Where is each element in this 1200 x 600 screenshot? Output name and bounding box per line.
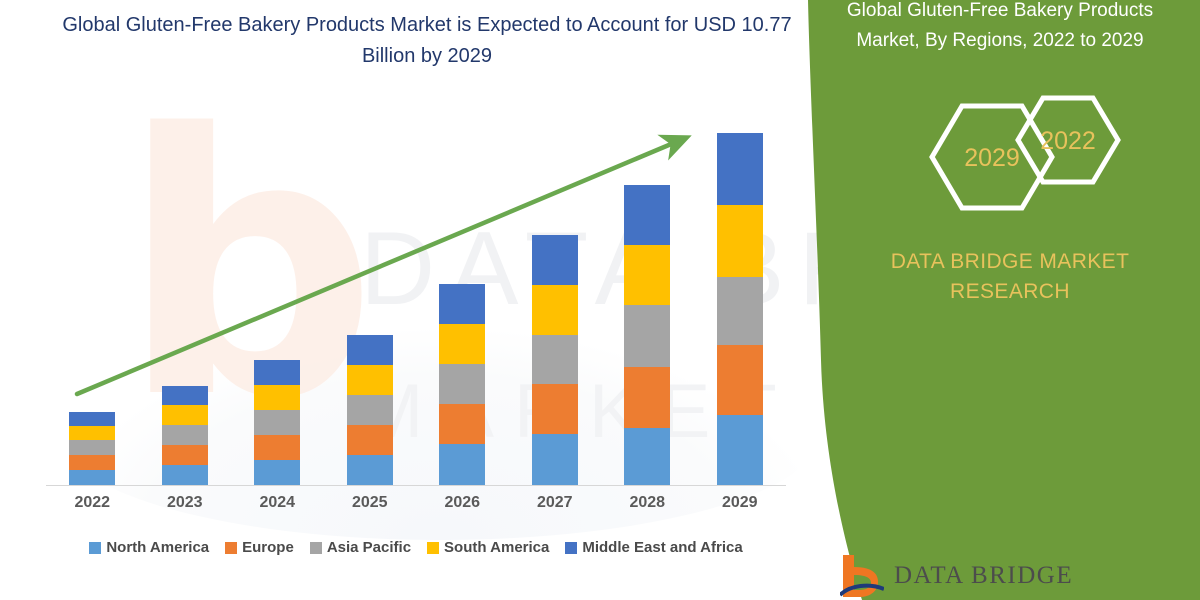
bar-segment [624,428,670,485]
bar-column [325,120,415,485]
bar-segment [439,284,485,324]
legend-swatch-icon [225,542,237,554]
bar-segment [347,335,393,365]
bar-segment [254,460,300,485]
brand-name-line2: RESEARCH [840,280,1180,304]
x-axis-label-2028: 2028 [602,494,692,512]
bar-segment [624,367,670,428]
bar-segment [717,345,763,415]
bar-segment [717,277,763,345]
x-axis-label-2024: 2024 [232,494,322,512]
chart-legend: North AmericaEuropeAsia PacificSouth Ame… [46,539,786,556]
chart-title: Global Gluten-Free Bakery Products Marke… [62,10,792,72]
bar-segment [254,385,300,410]
bar-segment [624,185,670,245]
legend-item[interactable]: Middle East and Africa [565,539,742,556]
x-axis-label-2023: 2023 [140,494,230,512]
bar-column [232,120,322,485]
legend-label: South America [444,539,549,556]
bar-stack-2029[interactable] [717,133,763,485]
bar-segment [439,404,485,444]
legend-item[interactable]: North America [89,539,209,556]
chart-plot-area: 20222023202420252026202720282029 North A… [0,0,800,600]
legend-label: North America [106,539,209,556]
bar-segment [717,415,763,485]
legend-label: Middle East and Africa [582,539,742,556]
bar-segment [439,324,485,364]
bar-segment [532,285,578,335]
x-axis-label-2025: 2025 [325,494,415,512]
bar-stack-2028[interactable] [624,185,670,485]
bar-column [417,120,507,485]
bar-segment [69,412,115,426]
bar-segment [439,364,485,404]
bar-segment [439,444,485,485]
bar-segment [254,410,300,435]
x-axis-label-2022: 2022 [47,494,137,512]
bar-segment [532,434,578,485]
legend-item[interactable]: South America [427,539,549,556]
bar-stack-2023[interactable] [162,386,208,485]
bar-column [695,120,785,485]
bar-segment [69,455,115,470]
footer-logo: DATA BRIDGE [840,552,1160,600]
bar-segment [717,133,763,205]
bar-stack-2024[interactable] [254,360,300,485]
x-axis-label-2029: 2029 [695,494,785,512]
bar-segment [532,335,578,384]
bar-segment [162,465,208,485]
legend-label: Asia Pacific [327,539,411,556]
bar-column [47,120,137,485]
bar-column [510,120,600,485]
bar-segment [69,470,115,485]
infographic-root: b DATA BRIDGE MARKET RESEARCH Global Glu… [0,0,1200,600]
bar-segment [162,425,208,445]
bar-segment [347,365,393,395]
bar-segment [347,425,393,455]
hexagon-2029-label: 2029 [964,144,1020,172]
x-axis-line [46,485,786,486]
legend-swatch-icon [310,542,322,554]
brand-panel: Global Gluten-Free Bakery Products Marke… [790,0,1200,600]
bar-segment [347,455,393,485]
legend-item[interactable]: Europe [225,539,294,556]
bar-stack-2022[interactable] [69,412,115,485]
bar-column [140,120,230,485]
legend-swatch-icon [427,542,439,554]
bar-column [602,120,692,485]
panel-title: Global Gluten-Free Bakery Products Marke… [820,0,1180,56]
footer-logo-text: DATA BRIDGE [894,562,1073,590]
bar-segment [717,205,763,277]
bar-segment [162,386,208,405]
bar-segment [532,384,578,434]
bar-segment [347,395,393,425]
bar-group [46,120,786,485]
bar-stack-2025[interactable] [347,335,393,485]
bar-segment [69,440,115,455]
bar-segment [69,426,115,440]
x-axis-label-2026: 2026 [417,494,507,512]
legend-item[interactable]: Asia Pacific [310,539,411,556]
legend-swatch-icon [89,542,101,554]
x-axis-label-2027: 2027 [510,494,600,512]
hexagon-badges: 2029 2022 [920,90,1150,225]
data-bridge-b-logo-icon [840,553,884,599]
brand-name-line1: DATA BRIDGE MARKET [840,250,1180,274]
x-axis-labels: 20222023202420252026202720282029 [46,494,786,512]
bar-segment [254,435,300,460]
bar-segment [624,305,670,367]
legend-label: Europe [242,539,294,556]
bar-stack-2026[interactable] [439,284,485,485]
bar-segment [624,245,670,305]
legend-swatch-icon [565,542,577,554]
bar-segment [532,235,578,285]
bar-segment [254,360,300,385]
hexagon-2022-label: 2022 [1040,127,1096,155]
bar-segment [162,405,208,425]
bar-stack-2027[interactable] [532,235,578,485]
bar-segment [162,445,208,465]
